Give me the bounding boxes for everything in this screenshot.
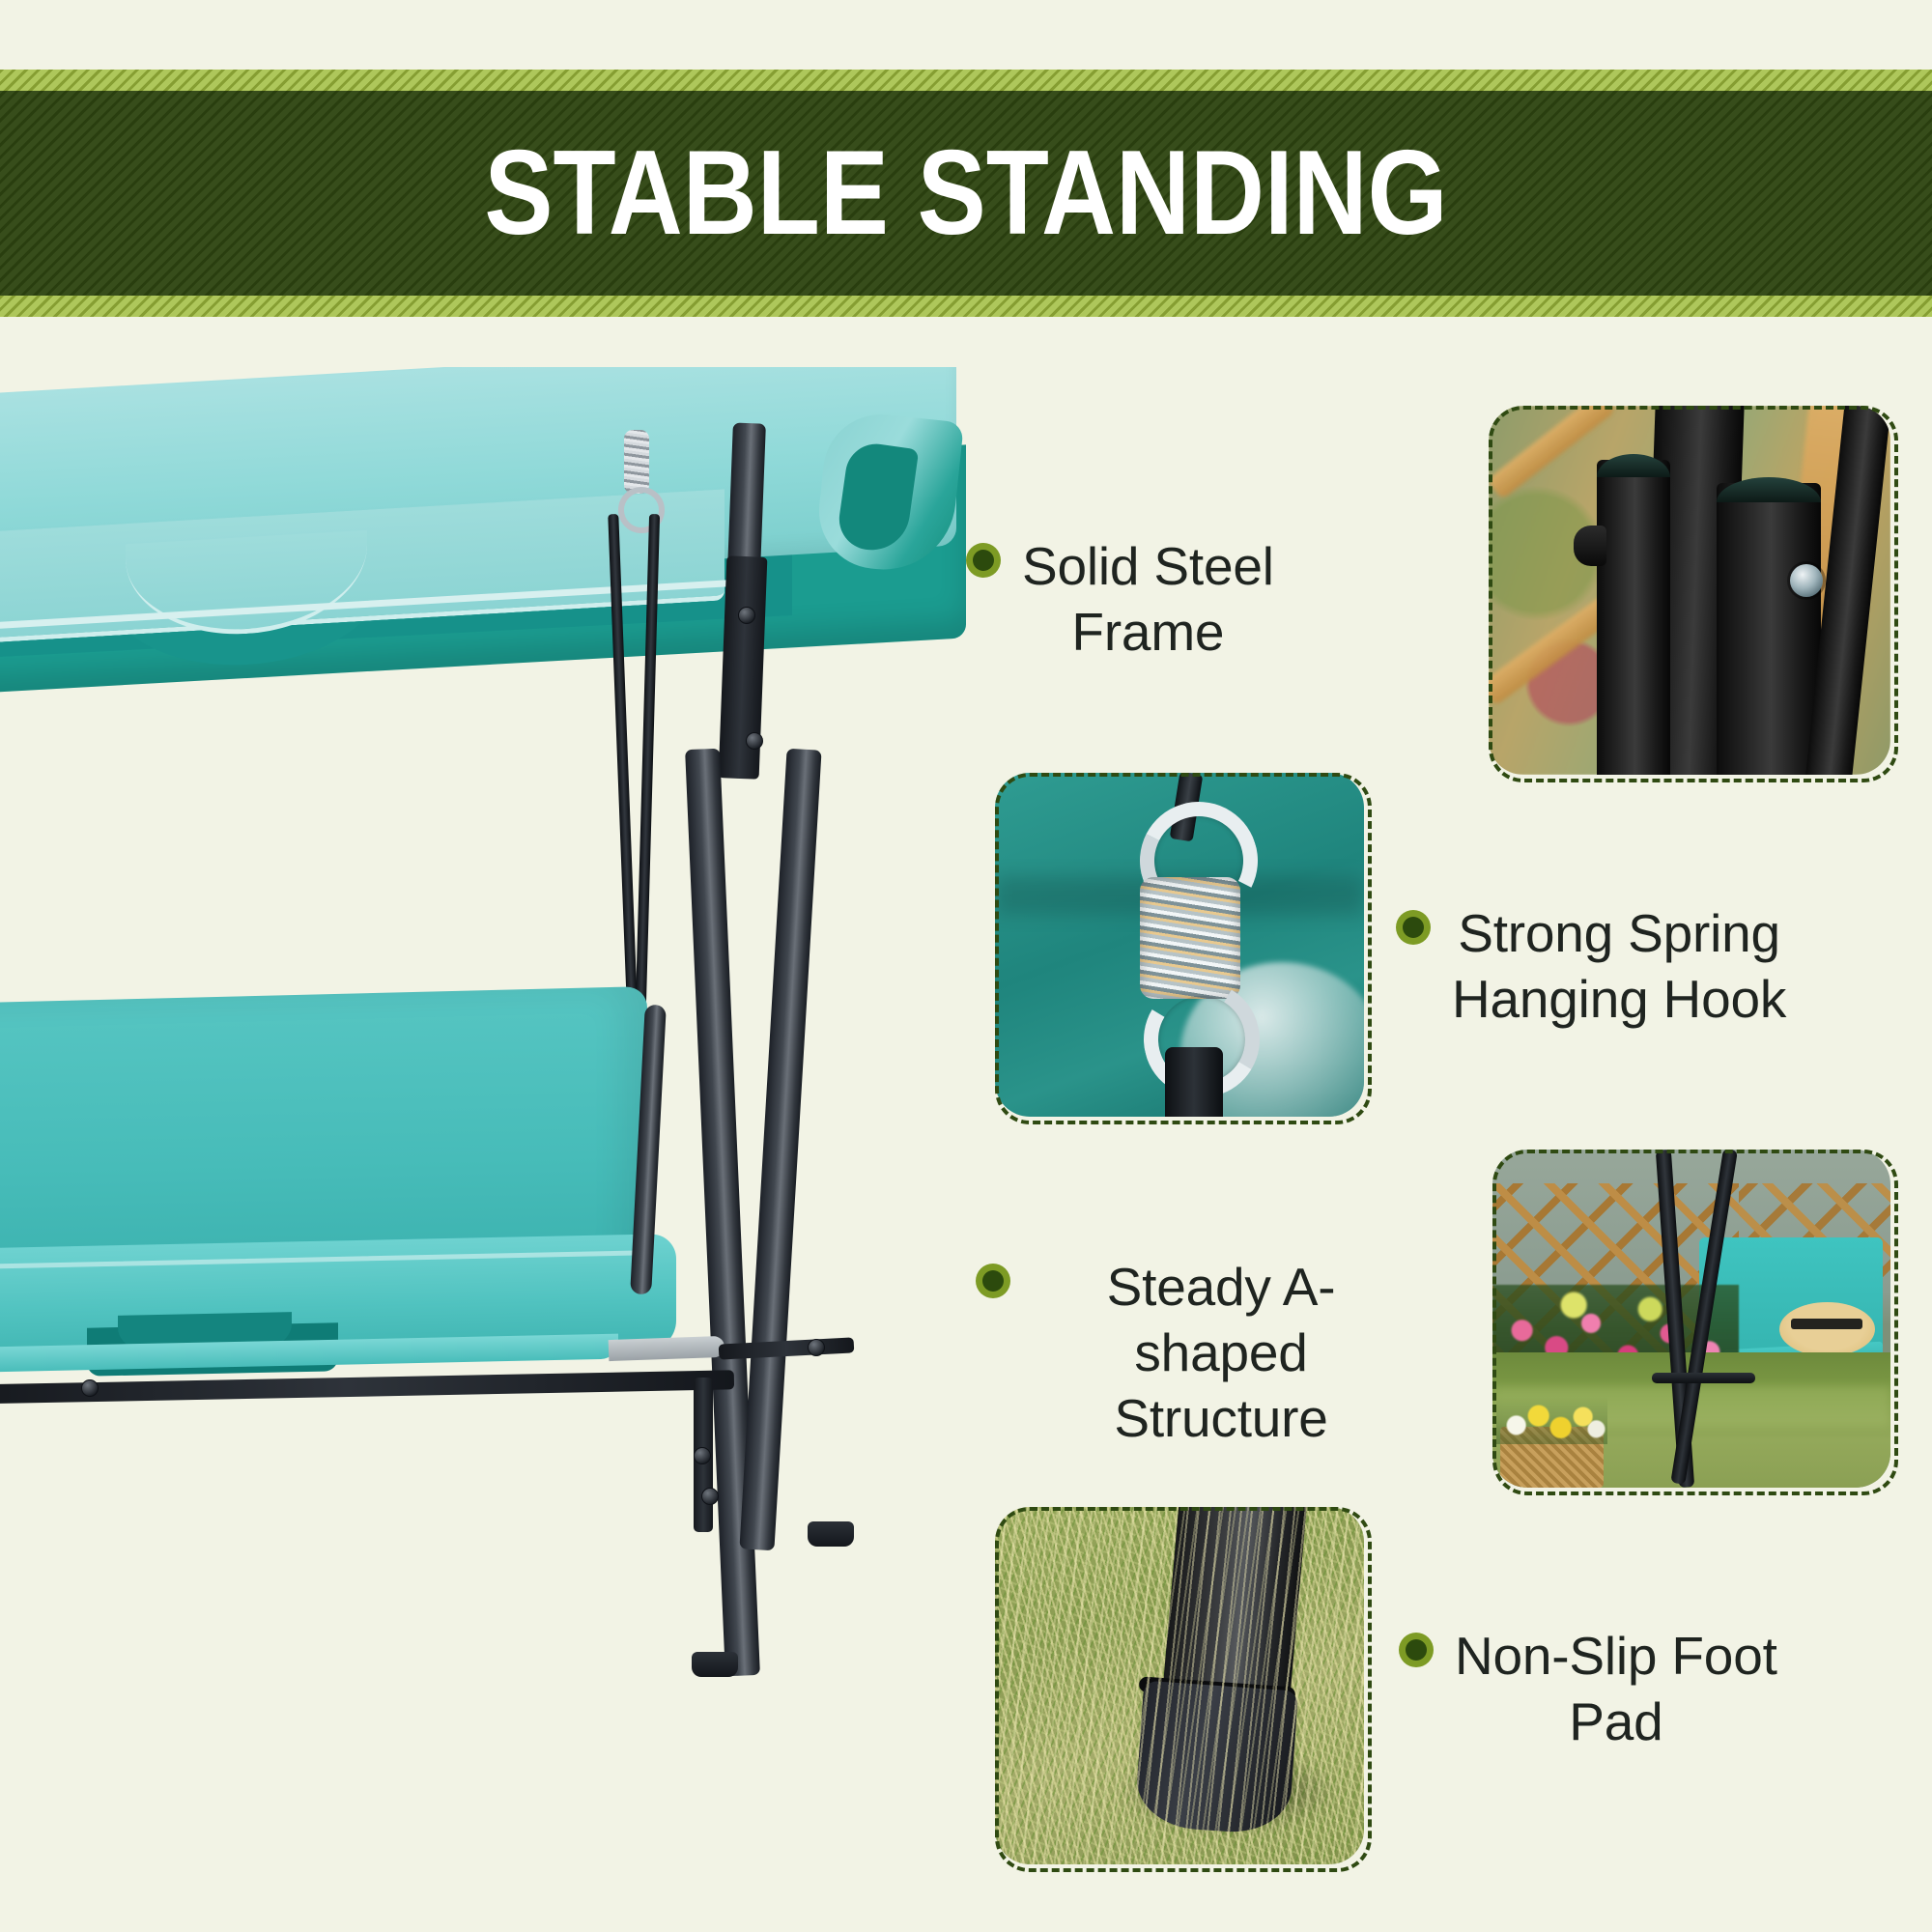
hanging-spring	[624, 430, 649, 494]
bullet-icon	[1399, 1633, 1434, 1667]
feature-label-text: Strong SpringHanging Hook	[1452, 900, 1786, 1032]
rail-rivet-right	[694, 1447, 711, 1464]
feature-photo-steady-a-shaped-structure	[1492, 1150, 1890, 1488]
feature-label-text: Solid SteelFrame	[1022, 533, 1274, 665]
bullet-icon	[1396, 910, 1431, 945]
feature-label-non-slip-foot-pad: Non-Slip FootPad	[1399, 1623, 1872, 1754]
hero-product-photo	[0, 367, 966, 1932]
frame-leg-rear	[739, 749, 821, 1551]
frame-photo-screw	[1790, 564, 1823, 597]
frame-photo-knob	[1574, 526, 1606, 566]
bullet-inner-dot	[1406, 1639, 1427, 1661]
feature-label-solid-steel-frame: Solid SteelFrame	[966, 533, 1391, 665]
feature-label-text: Non-Slip FootPad	[1455, 1623, 1777, 1754]
garden-photo-frame-brace	[1652, 1373, 1755, 1383]
frame-photo-tube-right	[1717, 483, 1821, 775]
feature-label-text: Steady A-shapedStructure	[1032, 1254, 1410, 1452]
hook-photo-black-clip	[1165, 1047, 1223, 1117]
hook-photo-spring-coil	[1140, 877, 1240, 999]
garden-photo-hat-band	[1791, 1319, 1862, 1329]
frame-rivet-upper	[738, 607, 755, 624]
feature-photo-strong-spring-hanging-hook	[995, 773, 1364, 1117]
leg-rivet-front	[701, 1488, 719, 1505]
seat-metal-edge	[609, 1336, 725, 1361]
foot-pad-rear	[808, 1521, 854, 1547]
footpad-photo-grass-blades	[995, 1507, 1364, 1864]
bullet-icon	[976, 1264, 1010, 1298]
bullet-inner-dot	[973, 550, 994, 571]
garden-photo-basket-flowers	[1496, 1397, 1607, 1444]
foot-pad-front	[692, 1652, 738, 1677]
feature-label-steady-a-shaped-structure: Steady A-shapedStructure	[976, 1254, 1410, 1452]
frame-rivet-lower	[746, 732, 763, 750]
page-title: STABLE STANDING	[135, 70, 1797, 317]
feature-photo-solid-steel-frame	[1489, 406, 1890, 775]
feature-photo-non-slip-foot-pad	[995, 1507, 1364, 1864]
infographic-page: STABLE STANDING	[0, 0, 1932, 1932]
feature-label-strong-spring-hanging-hook: Strong SpringHanging Hook	[1396, 900, 1889, 1032]
bullet-icon	[966, 543, 1001, 578]
bullet-inner-dot	[982, 1270, 1004, 1292]
bullet-inner-dot	[1403, 917, 1424, 938]
leg-rivet-rear	[808, 1339, 825, 1356]
rail-rivet-left	[81, 1379, 99, 1397]
frame-photo-tube-left	[1597, 460, 1670, 775]
